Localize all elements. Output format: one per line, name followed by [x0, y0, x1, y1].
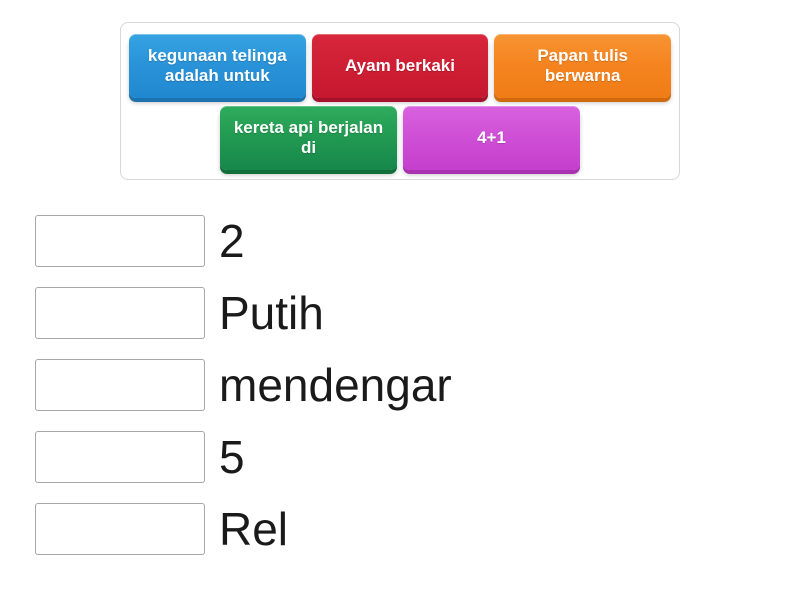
answer-row: Rel: [0, 493, 800, 565]
tile-bank: kegunaan telinga adalah untuk Ayam berka…: [120, 22, 680, 180]
answer-row: Putih: [0, 277, 800, 349]
draggable-tile-papan-tulis[interactable]: Papan tulis berwarna: [494, 34, 671, 98]
drop-zone-3[interactable]: [35, 359, 205, 411]
tile-label: Ayam berkaki: [345, 56, 455, 76]
answer-label-1: 2: [219, 218, 245, 264]
drop-zone-5[interactable]: [35, 503, 205, 555]
tile-label: kegunaan telinga adalah untuk: [136, 46, 299, 85]
draggable-tile-ayam-berkaki[interactable]: Ayam berkaki: [312, 34, 489, 98]
answer-row: 5: [0, 421, 800, 493]
draggable-tile-kegunaan-telinga[interactable]: kegunaan telinga adalah untuk: [129, 34, 306, 98]
tile-bank-row-1: kegunaan telinga adalah untuk Ayam berka…: [129, 34, 671, 98]
answer-label-2: Putih: [219, 290, 324, 336]
tile-label: kereta api berjalan di: [227, 118, 390, 157]
tile-label: Papan tulis berwarna: [501, 46, 664, 85]
answer-label-5: Rel: [219, 506, 288, 552]
tile-bank-row-2: kereta api berjalan di 4+1: [129, 106, 671, 170]
answer-row: 2: [0, 205, 800, 277]
answer-row: mendengar: [0, 349, 800, 421]
tile-label: 4+1: [477, 128, 506, 148]
draggable-tile-kereta-api[interactable]: kereta api berjalan di: [220, 106, 397, 170]
answer-label-4: 5: [219, 434, 245, 480]
drop-zone-4[interactable]: [35, 431, 205, 483]
answer-label-3: mendengar: [219, 362, 452, 408]
answer-list: 2 Putih mendengar 5 Rel: [0, 205, 800, 565]
drop-zone-1[interactable]: [35, 215, 205, 267]
draggable-tile-4-plus-1[interactable]: 4+1: [403, 106, 580, 170]
drop-zone-2[interactable]: [35, 287, 205, 339]
